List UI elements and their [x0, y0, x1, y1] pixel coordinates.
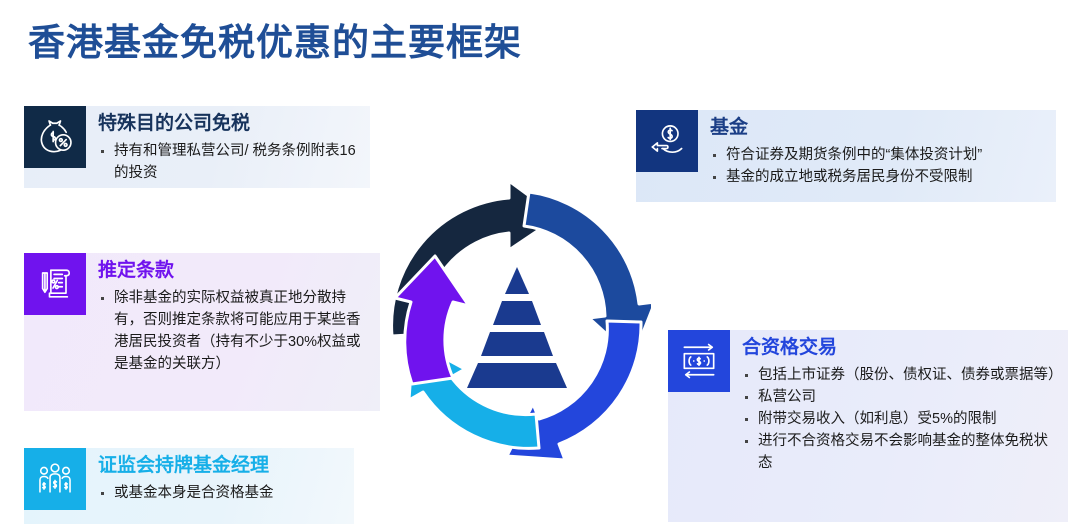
list-item: 符合证券及期货条例中的“集体投资计划” [710, 144, 982, 166]
card-qt-bullets: 包括上市证券（股份、债权证、债券或票据等） 私营公司 附带交易收入（如利息）受5… [742, 364, 1058, 474]
list-item: 附带交易收入（如利息）受5%的限制 [742, 408, 1058, 430]
hand-holding-coin-icon [636, 110, 698, 172]
circular-arrow-cycle-diagram [383, 170, 651, 462]
card-sfc-title: 证监会持牌基金经理 [98, 454, 274, 478]
card-fund-body: 基金 符合证券及期货条例中的“集体投资计划” 基金的成立地或税务居民身份不受限制 [698, 110, 992, 194]
card-qt-body: 合资格交易 包括上市证券（股份、债权证、债券或票据等） 私营公司 附带交易收入（… [730, 330, 1068, 480]
list-item: 除非基金的实际权益被真正地分散持有，否则推定条款将可能应用于某些香港居民投资者（… [98, 287, 370, 375]
list-item: 持有和管理私营公司/ 税务条例附表16 的投资 [98, 140, 360, 184]
page-title: 香港基金免税优惠的主要框架 [28, 12, 522, 66]
list-item: 私营公司 [742, 386, 1058, 408]
card-qt-title: 合资格交易 [742, 336, 1058, 360]
list-item: 基金的成立地或税务居民身份不受限制 [710, 166, 982, 188]
card-spv-bullets: 持有和管理私营公司/ 税务条例附表16 的投资 [98, 140, 360, 184]
list-item: 进行不合资格交易不会影响基金的整体免税状态 [742, 430, 1058, 474]
layered-pyramid-icon [467, 267, 567, 388]
money-bag-percent-icon [24, 106, 86, 168]
card-fund: 基金 符合证券及期货条例中的“集体投资计划” 基金的成立地或税务居民身份不受限制 [636, 110, 1056, 202]
card-fund-bullets: 符合证券及期货条例中的“集体投资计划” 基金的成立地或税务居民身份不受限制 [710, 144, 982, 188]
card-deeming-provisions: 推定条款 除非基金的实际权益被真正地分散持有，否则推定条款将可能应用于某些香港居… [24, 253, 380, 411]
slide-canvas: 香港基金免税优惠的主要框架 特殊目的公司免税 持有和管理私营公司/ 税务条例附表… [0, 0, 1080, 532]
card-deeming-body: 推定条款 除非基金的实际权益被真正地分散持有，否则推定条款将可能应用于某些香港居… [86, 253, 380, 381]
scroll-document-percent-pen-icon [24, 253, 86, 315]
card-deeming-bullets: 除非基金的实际权益被真正地分散持有，否则推定条款将可能应用于某些香港居民投资者（… [98, 287, 370, 375]
card-spv-body: 特殊目的公司免税 持有和管理私营公司/ 税务条例附表16 的投资 [86, 106, 370, 190]
card-deeming-title: 推定条款 [98, 259, 370, 283]
banknote-exchange-dollar-icon [668, 330, 730, 392]
three-people-dollar-icon [24, 448, 86, 510]
card-sfc-bullets: 或基金本身是合资格基金 [98, 482, 274, 504]
list-item: 包括上市证券（股份、债权证、债券或票据等） [742, 364, 1058, 386]
card-spv-title: 特殊目的公司免税 [98, 112, 360, 136]
card-fund-title: 基金 [710, 116, 982, 140]
card-spv-exemption: 特殊目的公司免税 持有和管理私营公司/ 税务条例附表16 的投资 [24, 106, 370, 188]
card-sfc-body: 证监会持牌基金经理 或基金本身是合资格基金 [86, 448, 284, 510]
card-sfc-licensed-manager: 证监会持牌基金经理 或基金本身是合资格基金 [24, 448, 354, 524]
list-item: 或基金本身是合资格基金 [98, 482, 274, 504]
card-qualifying-transactions: 合资格交易 包括上市证券（股份、债权证、债券或票据等） 私营公司 附带交易收入（… [668, 330, 1068, 522]
